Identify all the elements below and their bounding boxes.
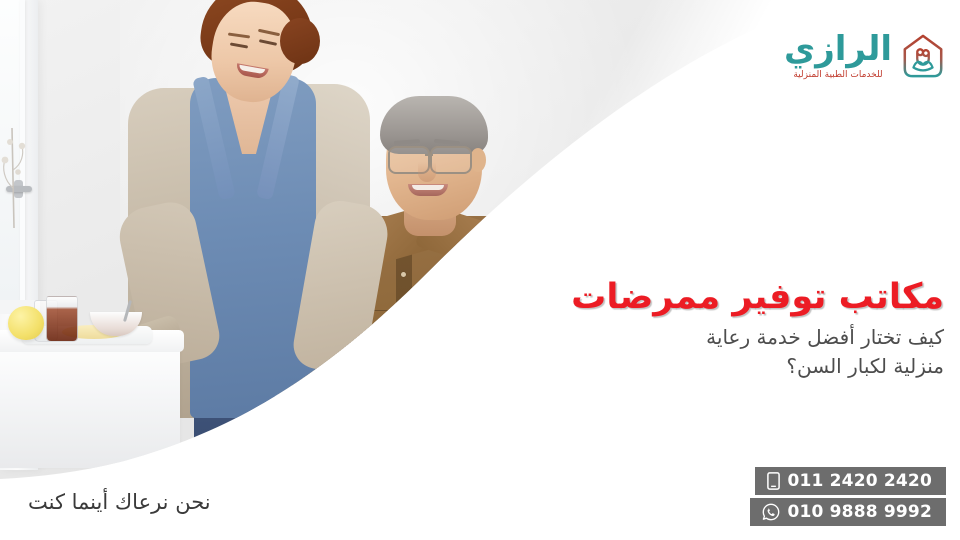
whatsapp-icon: [762, 503, 780, 521]
subtitle-line-1: كيف تختار أفضل خدمة رعاية: [706, 325, 944, 349]
table-body: [0, 338, 180, 468]
man-nose: [418, 162, 436, 182]
page-title: مكاتب توفير ممرضات: [514, 278, 944, 317]
man-hand: [496, 426, 554, 474]
shirt-button: [401, 272, 406, 277]
shirt-button: [401, 318, 406, 323]
man-shirt-placket: [396, 246, 412, 478]
eyeglasses-right-lens: [430, 146, 472, 174]
logo-tagline: للخدمات الطبية المنزلية: [784, 70, 892, 80]
man-teeth: [412, 185, 444, 190]
mobile-phone-icon: [767, 472, 780, 490]
hero-photo: [0, 0, 960, 540]
shirt-button: [401, 410, 406, 415]
promotional-banner: الرازي للخدمات الطبية المنزلية مكاتب توف…: [0, 0, 960, 540]
man-ear: [470, 148, 486, 172]
house-heart-stethoscope-icon: [900, 33, 946, 79]
brand-logo[interactable]: الرازي للخدمات الطبية المنزلية: [784, 32, 946, 80]
shirt-button: [401, 364, 406, 369]
footer-tagline: نحن نرعاك أينما كنت: [28, 490, 211, 514]
contact-phone-badge[interactable]: 011 2420 2420: [755, 467, 946, 495]
tea-glass: [46, 296, 78, 342]
lemon: [8, 306, 44, 340]
logo-brand-name: الرازي: [784, 32, 892, 66]
contact-whatsapp-badge[interactable]: 010 9888 9992: [750, 498, 946, 526]
subtitle-line-2: منزلية لكبار السن؟: [786, 354, 944, 378]
whatsapp-number: 010 9888 9992: [787, 502, 932, 522]
contact-list: 011 2420 2420 010 9888 9992: [750, 467, 946, 526]
eyeglasses-bridge: [425, 154, 433, 156]
dried-plant-decor: [0, 118, 30, 228]
phone-number: 011 2420 2420: [787, 471, 932, 491]
nurse-hair-bun: [280, 18, 320, 64]
headline-block: مكاتب توفير ممرضات كيف تختار أفضل خدمة ر…: [514, 278, 944, 380]
headline-subtitle: كيف تختار أفضل خدمة رعاية منزلية لكبار ا…: [514, 323, 944, 380]
